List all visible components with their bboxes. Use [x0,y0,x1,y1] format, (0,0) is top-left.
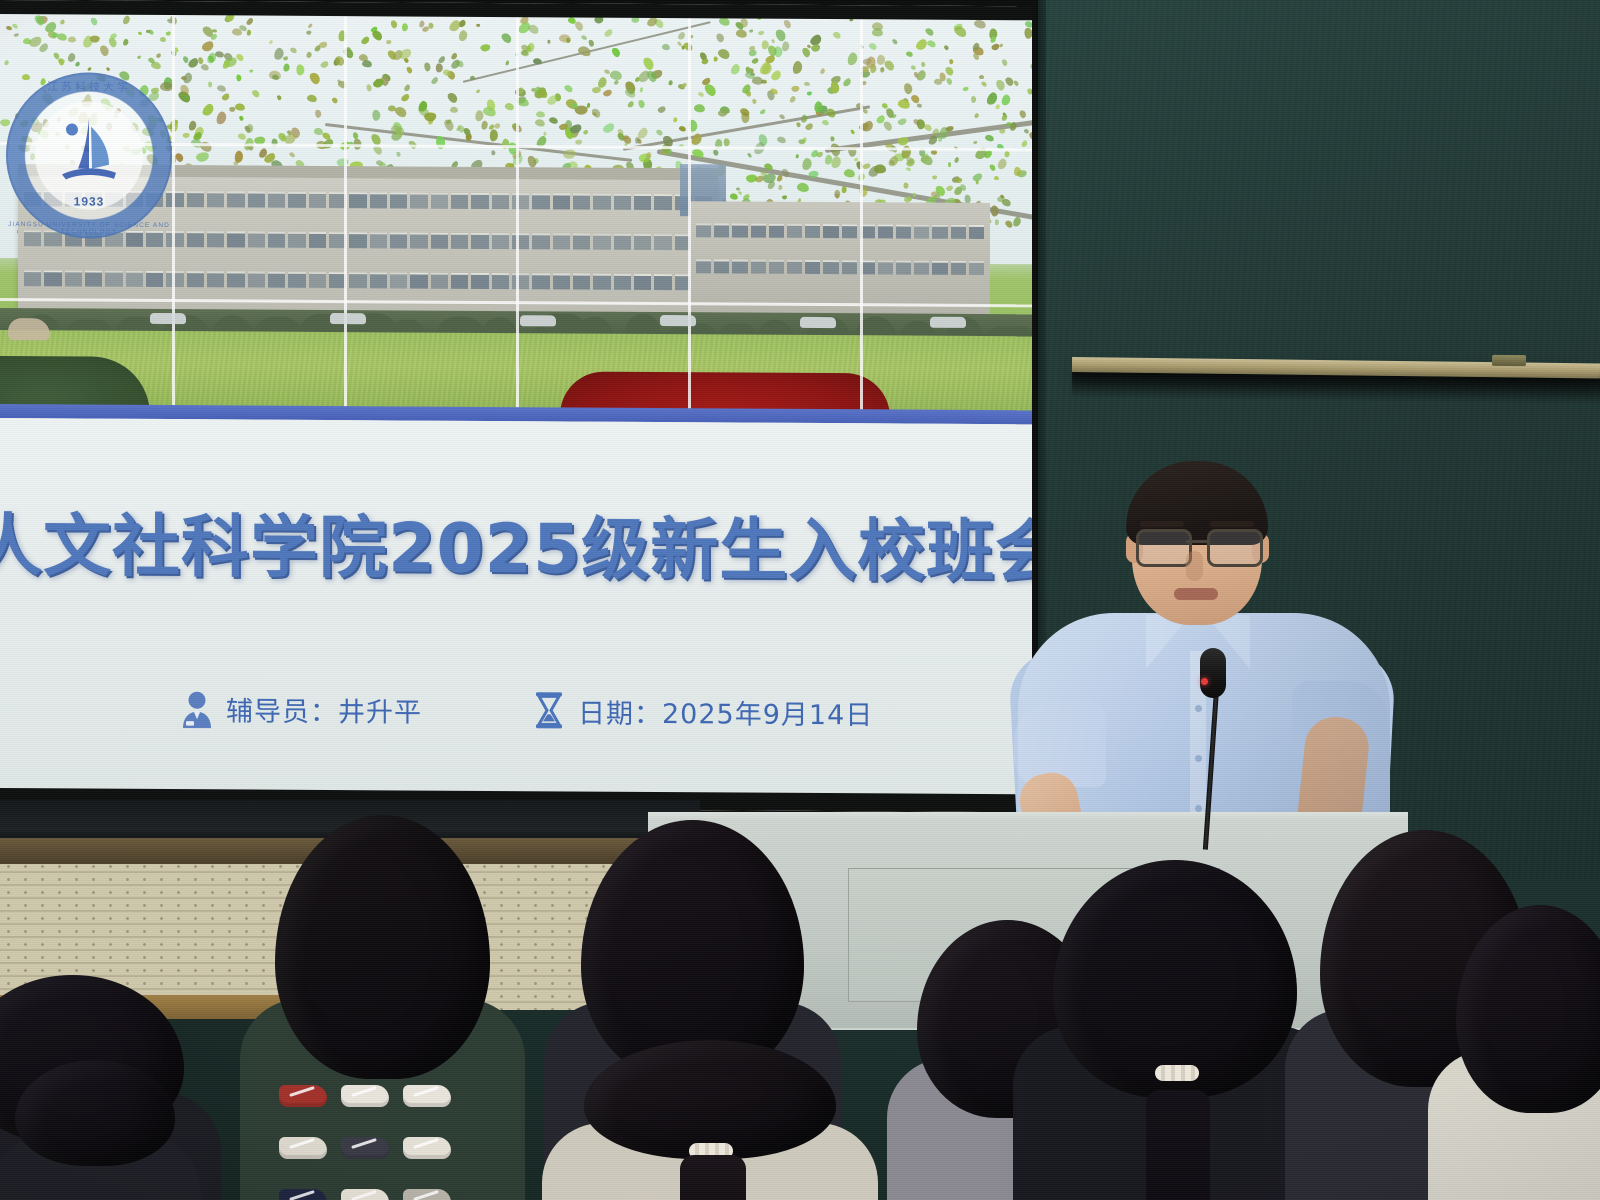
photo-leaf [810,44,821,53]
photo-leaf [613,79,619,85]
photo-leaf [396,151,401,157]
sneaker-stripe [289,1190,315,1200]
building-window [187,271,204,287]
building-window [896,260,911,274]
building-window-row [696,223,984,239]
photo-leaf [905,51,913,58]
photo-leaf [796,182,810,193]
photo-leaf [801,157,813,171]
building-window [492,273,509,289]
photo-leaf [662,43,671,50]
building-window [553,273,570,289]
photo-leaf [436,63,443,72]
photo-leaf [800,114,808,124]
photo-leaf [916,103,922,108]
photo-leaf [1011,216,1021,228]
tshirt-sneaker-graphic [279,1137,327,1159]
building-window [227,271,244,287]
photo-leaf [306,51,313,59]
photo-leaf [751,76,763,85]
building-window [410,273,427,289]
photo-leaf [803,81,810,86]
building-window [349,272,366,288]
building-window [634,274,651,290]
photo-leaf [247,29,252,35]
photo-leaf [423,112,436,121]
building-window [105,271,122,287]
sneaker-stripe [351,1086,377,1097]
photo-grid-line-vertical [172,13,175,409]
photo-leaf [60,19,66,25]
photo-leaf [450,107,459,113]
photo-leaf [200,63,209,71]
photo-leaf [525,42,535,54]
building-window [553,233,570,249]
photo-leaf [576,45,591,58]
building-window [451,233,468,249]
photo-leaf [175,152,186,163]
building-window [492,193,509,209]
photo-leaf [655,129,664,137]
photo-leaf [489,129,498,141]
photo-leaf [871,28,882,36]
building-window [309,232,326,248]
building-window [349,192,366,208]
photo-leaf [737,190,742,195]
photo-leaf [713,56,718,62]
photo-leaf [1000,93,1011,106]
photo-grid-line-vertical [860,17,863,413]
photo-leaf [526,23,540,36]
photo-leaf [807,92,813,96]
building-window [969,261,984,275]
building-window [288,272,305,288]
building-window [370,272,387,288]
photo-leaf [68,36,76,42]
photo-leaf [678,125,686,132]
tshirt-sneaker-graphic [341,1085,389,1107]
building-window [24,270,41,286]
photo-leaf [476,24,480,27]
building-window [573,233,590,249]
photo-parked-car [800,317,836,328]
photo-leaf [308,23,313,29]
building-window [309,192,326,208]
building-window [85,271,102,287]
building-window-row [24,270,712,290]
photo-leaf [749,29,754,33]
photo-leaf [289,46,298,54]
photo-leaf [182,71,194,85]
building-window [969,225,984,239]
photo-leaf [677,31,686,41]
building-window [248,272,265,288]
photo-leaf [820,67,826,74]
sneaker-stripe [289,1086,315,1097]
photo-leaf [575,140,583,146]
photo-leaf [547,40,550,44]
photo-leaf [238,115,243,121]
photo-leaf [14,32,19,37]
building-window [532,273,549,289]
photo-leaf [221,93,231,102]
photo-leaf [535,110,545,117]
photo-leaf [366,84,372,91]
photo-secondary-building [690,201,990,315]
photo-leaf [910,65,916,71]
photo-leaf [844,168,856,178]
photo-grid-line-vertical [516,15,519,411]
photo-leaf [505,102,516,111]
photo-leaf [602,122,616,135]
photo-leaf [993,175,999,180]
building-window [248,232,265,248]
photo-leaf [245,123,254,134]
building-window [714,223,729,237]
photo-leaf [795,154,799,159]
building-window [44,270,61,286]
building-window [227,191,244,207]
building-window [714,259,729,273]
building-window [951,261,966,275]
building-window [787,224,802,238]
photo-leaf [491,150,495,155]
hair-tie-icon [1155,1065,1199,1081]
photo-leaf [237,132,246,140]
photo-leaf [774,28,787,42]
photo-leaf [160,37,167,43]
photo-leaf [947,162,950,167]
photo-leaf [717,47,732,61]
building-window [932,225,947,239]
photo-leaf [475,89,480,94]
chalk-ledge-clip-icon [1492,355,1526,366]
photo-leaf [66,52,76,63]
slide-meta-row: 辅导员：井升平 日期：2025年9月14日 [180,682,820,738]
photo-leaf [1020,140,1028,149]
logo-year: 1933 [74,194,105,208]
photo-leaf [391,20,399,30]
photo-leaf [834,189,841,198]
photo-parked-car [330,313,366,324]
glasses-lens-left [1136,529,1192,567]
building-window [288,232,305,248]
photo-leaf [750,72,755,76]
photo-leaf [792,60,804,75]
photo-leaf [359,53,369,61]
audience-member [560,1040,860,1200]
photo-leaf [973,140,978,144]
photo-leaf [921,62,925,67]
photo-parked-car [930,317,966,328]
building-window [696,223,711,237]
building-window [268,232,285,248]
building-window [471,233,488,249]
photo-leaf [574,19,586,31]
photo-leaf [588,39,595,47]
photo-leaf [109,32,118,40]
building-window [951,225,966,239]
photo-leaf [145,30,149,33]
building-window [187,191,204,207]
photo-leaf [548,116,558,125]
photo-leaf [730,63,742,76]
photo-leaf [657,106,666,114]
photo-leaf [870,64,877,73]
logo-name-en: JIANGSU UNIVERSITY OF SCIENCE AND TECHNO… [6,221,172,236]
photo-leaf [137,55,142,60]
building-window [823,260,838,274]
photo-leaf [288,152,296,159]
sneaker-stripe [289,1138,315,1149]
photo-leaf [717,108,728,117]
photo-leaf [406,66,414,74]
photo-leaf [597,76,609,89]
building-window [471,273,488,289]
building-window [207,231,224,247]
building-window [614,234,631,250]
photo-leaf [320,60,329,68]
photo-leaf [90,36,100,43]
photo-leaf [724,138,730,146]
sneaker-stripe [351,1138,377,1149]
building-window [842,224,857,238]
photo-leaf [229,107,235,112]
photo-leaf [843,77,853,87]
building-window [896,224,911,238]
tshirt-sneaker-graphic [403,1137,451,1159]
building-window [614,274,631,290]
photo-leaf [790,85,799,92]
slide-meta-presenter: 辅导员：井升平 [180,688,422,729]
sneaker-stripe [413,1190,439,1200]
photo-leaf [874,164,886,173]
building-window [268,272,285,288]
projector-screen: 江苏科技大学 1933 JIANGSU UNIVERSITY OF SCIENC… [0,0,1032,812]
building-window [553,193,570,209]
photo-leaf [701,58,709,65]
photo-leaf [782,196,788,200]
building-window [914,225,929,239]
photo-leaf [313,44,322,53]
building-window [878,224,893,238]
photo-leaf [680,81,687,88]
photo-leaf [963,87,970,93]
photo-leaf [804,122,814,132]
building-window [614,194,631,210]
photo-leaf [971,96,976,103]
photo-leaf [166,31,172,36]
building-window [732,223,747,237]
tshirt-sneaker-graphic [279,1189,327,1200]
photo-leaf [221,59,231,70]
tshirt-sneaker-graphic [341,1137,389,1159]
building-window [288,192,305,208]
photo-leaf [668,79,673,85]
photo-leaf [283,63,290,72]
tshirt-sneaker-graphic [279,1085,327,1107]
photo-leaf [282,56,288,61]
building-window [805,260,820,274]
photo-leaf [251,89,261,98]
photo-leaf [868,42,878,51]
photo-leaf [445,91,459,105]
photo-leaf [832,31,842,40]
photo-leaf [505,60,510,65]
building-window [573,193,590,209]
building-window [431,273,448,289]
photo-leaf [215,110,228,125]
audience-member-head [15,1060,175,1166]
photo-grid-line-vertical [688,16,691,412]
photo-leaf [1019,109,1027,119]
photo-leaf [500,32,514,46]
photo-leaf [603,27,614,38]
photo-leaf [673,117,678,123]
photo-leaf [271,74,279,81]
photo-stone [8,318,50,340]
photo-leaf [782,18,792,29]
building-window [451,273,468,289]
audience-member-ponytail [680,1155,746,1200]
photo-leaf [386,40,391,44]
photo-leaf [974,112,980,119]
building-window [126,271,143,287]
photo-leaf [610,46,622,58]
building-window [512,233,529,249]
audience-member-head [1456,905,1600,1113]
photo-leaf [841,186,846,193]
slide-meta-date: 日期：2025年9月14日 [532,690,873,732]
photo-leaf [1001,197,1012,207]
photo-leaf [563,149,577,159]
hourglass-icon [532,690,566,730]
photo-leaf [984,134,994,143]
photo-leaf [753,99,758,105]
photo-leaf [216,84,226,92]
photo-leaf [402,23,409,32]
photo-leaf [882,120,893,132]
building-window [390,232,407,248]
photo-leaf [846,51,859,66]
photo-leaf [371,28,384,41]
photo-leaf [830,136,834,142]
audience-member-head [584,1040,836,1159]
photo-leaf [331,97,339,105]
photo-leaf [638,99,645,108]
photo-leaf [57,33,68,42]
photo-leaf [904,183,909,189]
photo-leaf [995,104,1001,111]
photo-leaf [932,175,938,180]
building-window [146,271,163,287]
photo-leaf [749,50,758,57]
photo-leaf [195,150,210,162]
building-window [634,194,651,210]
photo-leaf [215,51,225,59]
slide-title: 人文社科学院2025级新生入校班会 [0,490,1032,596]
photo-leaf [716,32,726,43]
photo-leaf [4,60,10,66]
building-window [593,234,610,250]
photo-leaf [235,102,246,110]
building-window [842,260,857,274]
photo-leaf [821,119,829,126]
building-window [248,192,265,208]
photo-leaf [904,83,914,95]
photo-leaf [1001,58,1009,67]
photo-leaf [735,29,747,39]
audience-member-ponytail [1146,1090,1210,1200]
photo-leaf [602,88,613,97]
photo-leaf [122,15,132,26]
speaker-eyebrow-right [1210,521,1254,527]
photo-leaf [458,30,468,42]
photo-leaf [627,100,636,109]
building-window [532,233,549,249]
building-window [471,193,488,209]
photo-leaf [988,164,996,173]
photo-leaf [1013,80,1020,88]
photo-leaf [697,91,704,97]
photo-grid-line-vertical [344,14,347,410]
photo-leaf [74,61,80,67]
building-window [410,193,427,209]
photo-leaf [746,152,752,158]
building-window [696,259,711,273]
building-window [492,233,509,249]
building-window [634,234,651,250]
photo-leaf [438,54,447,63]
tshirt-sneaker-graphic [403,1189,451,1200]
audience-member [1030,860,1320,1200]
building-window [451,193,468,209]
photo-leaf [105,67,110,72]
photo-leaf [581,35,589,42]
building-window [370,192,387,208]
photo-leaf [99,44,111,57]
building-window [390,192,407,208]
photo-leaf [972,172,984,183]
photo-leaf [991,205,1000,217]
sneaker-stripe [413,1086,439,1097]
building-window [187,231,204,247]
photo-leaf [400,92,411,102]
photo-leaf [268,40,273,45]
photo-leaf [423,62,431,72]
photo-leaf [641,56,655,72]
photo-leaf [314,109,321,118]
photo-leaf [470,76,475,80]
glasses-bridge [1186,540,1207,543]
building-window [349,232,366,248]
photo-leaf [897,98,911,110]
photo-leaf [944,44,950,50]
building-window [823,224,838,238]
slide-meta-presenter-label: 辅导员：井升平 [226,689,422,729]
photo-leaf [562,84,573,94]
photo-leaf [771,39,776,44]
photo-leaf [897,136,909,146]
photo-leaf [926,39,936,48]
building-window [370,232,387,248]
building-window [512,273,529,289]
audience-member [0,1060,190,1200]
building-window [512,193,529,209]
building-window [431,233,448,249]
building-window [654,274,671,290]
photo-leaf [729,193,738,201]
